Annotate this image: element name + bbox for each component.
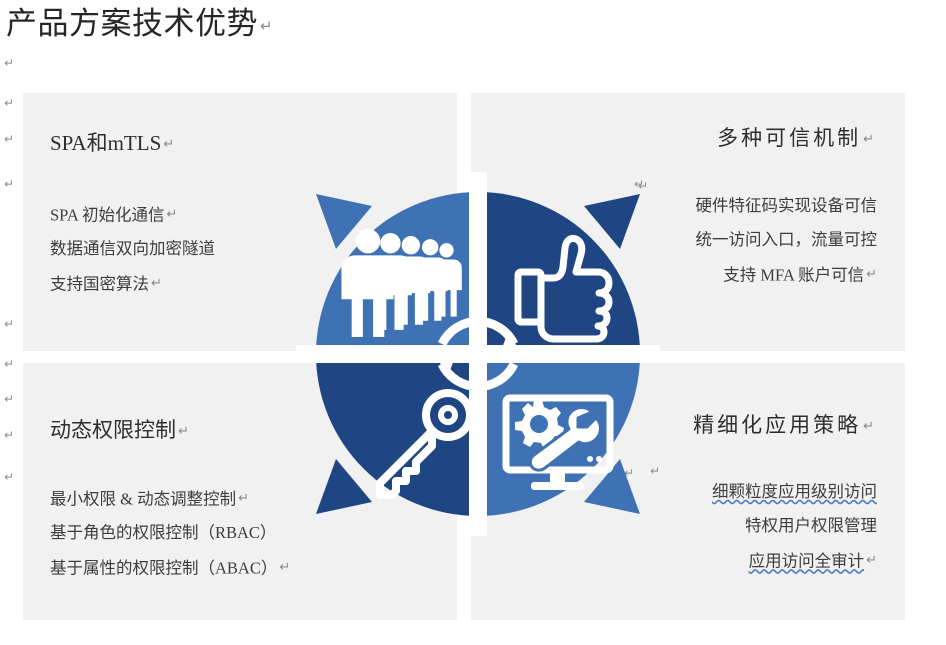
bullet-text: 支持国密算法 bbox=[50, 275, 149, 294]
bullet-text: 特权用户权限管理 bbox=[745, 516, 877, 535]
bullet-line: 数据通信双向加密隧道 bbox=[50, 232, 215, 266]
quadrant-body-top-left: SPA 初始化通信↵ 数据通信双向加密隧道 支持国密算法↵ bbox=[50, 197, 215, 302]
paragraph-mark-icon: ↵ bbox=[864, 266, 877, 281]
bullet-line: 支持 MFA 账户可信↵ bbox=[471, 257, 877, 292]
bullet-text: 数据通信双向加密隧道 bbox=[50, 239, 215, 258]
quadrant-panel-top-right[interactable]: ↵ 多种可信机制↵ 硬件特征码实现设备可信 统一访问入口，流量可控 支持 MFA… bbox=[471, 93, 905, 351]
bullet-line: 支持国密算法↵ bbox=[50, 266, 215, 301]
bullet-text: 统一访问入口，流量可控 bbox=[696, 230, 878, 249]
bullet-line: 最小权限 & 动态调整控制↵ bbox=[50, 481, 290, 516]
paragraph-mark-icon: ↵ bbox=[4, 56, 14, 70]
page-title-text: 产品方案技术优势 bbox=[6, 6, 258, 41]
bullet-text: 支持 MFA 账户可信 bbox=[723, 265, 864, 284]
heading-text: 动态权限控制 bbox=[50, 418, 176, 442]
bullet-line: SPA 初始化通信↵ bbox=[50, 197, 215, 232]
quadrant-body-bottom-right: 细颗粒度应用级别访问 特权用户权限管理 应用访问全审计↵ bbox=[471, 475, 877, 578]
paragraph-mark-icon: ↵ bbox=[149, 275, 162, 290]
paragraph-mark-icon: ↵ bbox=[861, 418, 877, 433]
bullet-text: 硬件特征码实现设备可信 bbox=[696, 196, 878, 215]
margin-paragraph-marks: ↵ ↵ ↵ ↵ ↵ ↵ ↵ ↵ ↵ bbox=[2, 52, 22, 572]
bullet-text: SPA 初始化通信 bbox=[50, 205, 164, 224]
bullet-line: 应用访问全审计↵ bbox=[471, 543, 877, 578]
quadrant-panel-bottom-right[interactable]: ↵ 精细化应用策略↵ 细颗粒度应用级别访问 特权用户权限管理 应用访问全审计↵ bbox=[471, 363, 905, 620]
paragraph-mark-icon: ↵ bbox=[864, 552, 877, 567]
paragraph-mark-icon: ↵ bbox=[236, 490, 249, 505]
paragraph-mark-icon: ↵ bbox=[258, 18, 273, 35]
paragraph-mark-icon: ↵ bbox=[4, 470, 14, 484]
quadrant-body-bottom-left: 最小权限 & 动态调整控制↵ 基于角色的权限控制（RBAC） 基于属性的权限控制… bbox=[50, 481, 290, 586]
bullet-line: 统一访问入口，流量可控 bbox=[471, 223, 877, 257]
quadrant-heading-bottom-left: 动态权限控制↵ bbox=[50, 416, 189, 445]
heading-text: 精细化应用策略 bbox=[693, 413, 861, 437]
bullet-text: 基于属性的权限控制（ABAC） bbox=[50, 559, 277, 578]
paragraph-mark-icon: ↵ bbox=[861, 131, 877, 146]
bullet-line: 硬件特征码实现设备可信 bbox=[471, 189, 877, 223]
quadrant-heading-top-right: 多种可信机制↵ bbox=[471, 124, 877, 153]
quadrant-heading-bottom-right: 精细化应用策略↵ bbox=[471, 411, 877, 440]
bullet-text: 细颗粒度应用级别访问 bbox=[712, 482, 877, 501]
paragraph-mark-icon: ↵ bbox=[634, 177, 644, 191]
paragraph-mark-icon: ↵ bbox=[4, 317, 14, 331]
paragraph-mark-icon: ↵ bbox=[4, 132, 14, 146]
quadrant-grid: SPA和mTLS↵ SPA 初始化通信↵ 数据通信双向加密隧道 支持国密算法↵ … bbox=[23, 93, 905, 620]
heading-text: SPA和mTLS bbox=[50, 131, 161, 155]
paragraph-mark-icon: ↵ bbox=[4, 357, 14, 371]
quadrant-heading-top-left: SPA和mTLS↵ bbox=[50, 129, 174, 158]
paragraph-mark-icon: ↵ bbox=[277, 559, 290, 574]
paragraph-mark-icon: ↵ bbox=[650, 464, 660, 478]
heading-text: 多种可信机制 bbox=[717, 126, 861, 150]
paragraph-mark-icon: ↵ bbox=[4, 96, 14, 110]
paragraph-mark-icon: ↵ bbox=[176, 423, 189, 438]
quadrant-panel-bottom-left[interactable]: 动态权限控制↵ 最小权限 & 动态调整控制↵ 基于角色的权限控制（RBAC） 基… bbox=[23, 363, 457, 620]
paragraph-mark-icon: ↵ bbox=[164, 206, 177, 221]
bullet-line: 基于角色的权限控制（RBAC） bbox=[50, 516, 290, 550]
bullet-text: 应用访问全审计 bbox=[749, 551, 865, 570]
page-title: 产品方案技术优势↵ bbox=[6, 2, 273, 49]
bullet-line: 特权用户权限管理 bbox=[471, 509, 877, 543]
paragraph-mark-icon: ↵ bbox=[161, 136, 174, 151]
bullet-text: 最小权限 & 动态调整控制 bbox=[50, 489, 236, 508]
quadrant-body-top-right: 硬件特征码实现设备可信 统一访问入口，流量可控 支持 MFA 账户可信↵ bbox=[471, 189, 877, 292]
bullet-text: 基于角色的权限控制（RBAC） bbox=[50, 523, 276, 542]
paragraph-mark-icon: ↵ bbox=[4, 177, 14, 191]
paragraph-mark-icon: ↵ bbox=[4, 392, 14, 406]
paragraph-mark-icon: ↵ bbox=[4, 428, 14, 442]
quadrant-panel-top-left[interactable]: SPA和mTLS↵ SPA 初始化通信↵ 数据通信双向加密隧道 支持国密算法↵ bbox=[23, 93, 457, 351]
bullet-line: 细颗粒度应用级别访问 bbox=[471, 475, 877, 509]
bullet-line: 基于属性的权限控制（ABAC）↵ bbox=[50, 550, 290, 585]
